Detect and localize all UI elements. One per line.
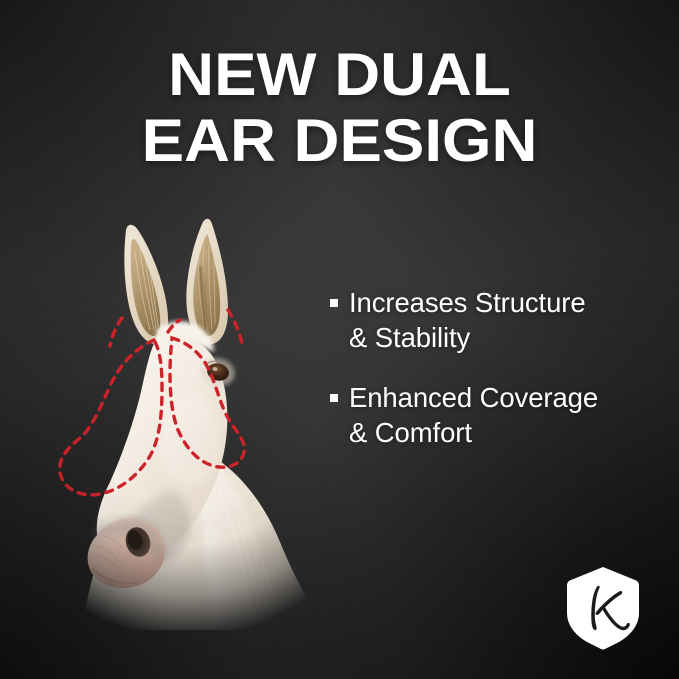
- headline-line-2: EAR DESIGN: [0, 112, 679, 171]
- page-title: NEW DUAL EAR DESIGN: [0, 46, 679, 171]
- feature-text: Enhanced Coverage & Comfort: [349, 381, 598, 450]
- feature-line-1: Increases Structure: [349, 287, 586, 318]
- headline-line-1: NEW DUAL: [0, 46, 679, 105]
- brand-logo: [563, 565, 643, 651]
- feature-line-2: & Comfort: [349, 417, 472, 448]
- feature-text: Increases Structure & Stability: [349, 286, 586, 355]
- feature-line-1: Enhanced Coverage: [349, 382, 598, 413]
- promo-graphic-canvas: NEW DUAL EAR DESIGN: [0, 0, 679, 679]
- list-item: Increases Structure & Stability: [330, 286, 648, 355]
- horse-photo: [22, 190, 352, 630]
- square-bullet-icon: [330, 299, 338, 307]
- square-bullet-icon: [330, 394, 338, 402]
- list-item: Enhanced Coverage & Comfort: [330, 381, 648, 450]
- feature-list: Increases Structure & Stability Enhanced…: [330, 286, 648, 477]
- feature-line-2: & Stability: [349, 322, 470, 353]
